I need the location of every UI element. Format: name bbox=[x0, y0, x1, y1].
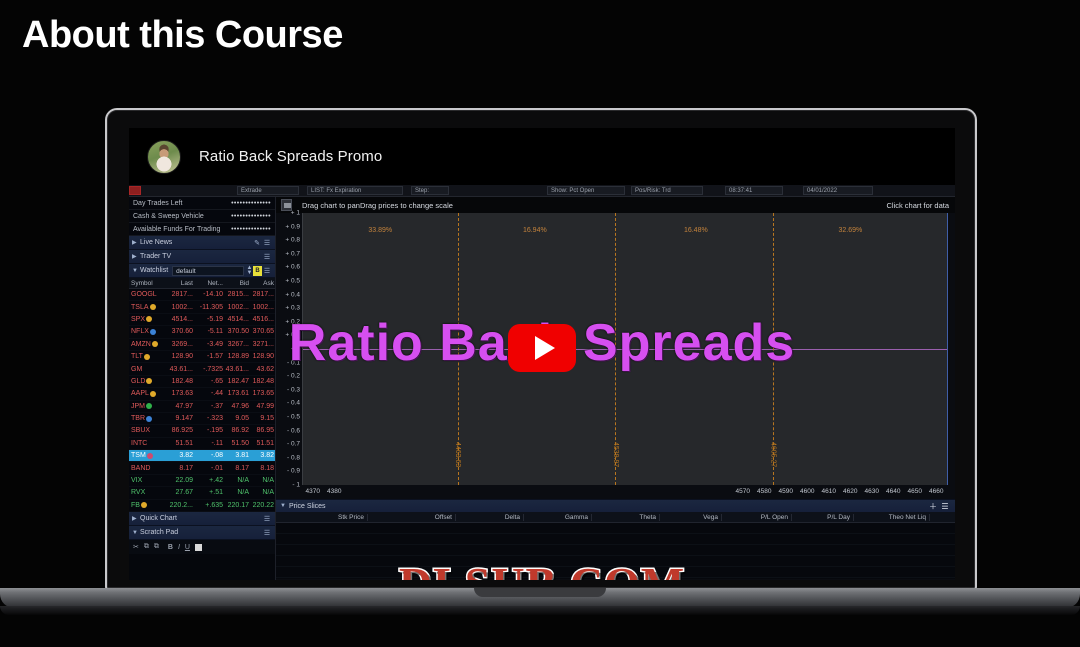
cell-last: 86.925 bbox=[163, 427, 195, 434]
y-tick-label: + 0.9 bbox=[285, 223, 300, 230]
panel-label: Quick Chart bbox=[140, 515, 262, 522]
chevron-down-icon: ▼ bbox=[280, 503, 286, 509]
panel-label: Live News bbox=[140, 239, 252, 246]
x-tick-label: 4590 bbox=[779, 488, 793, 495]
account-value: •••••••••••••• bbox=[231, 213, 271, 220]
cell-symbol: SPX bbox=[129, 316, 163, 323]
price-slices-column-header[interactable]: Theo Net Liq bbox=[854, 514, 930, 521]
watchlist-row[interactable]: TSLA1002...-11.3051002...1002... bbox=[129, 301, 275, 313]
cell-bid: 51.50 bbox=[225, 440, 251, 447]
chart-marker-price-label: 4463.63 bbox=[454, 442, 461, 467]
cell-last: 22.09 bbox=[163, 477, 195, 484]
cell-ask: 1002... bbox=[251, 304, 276, 311]
symbol-badge-icon bbox=[147, 453, 153, 459]
cell-net: -.37 bbox=[195, 403, 225, 410]
col-net[interactable]: Net... bbox=[195, 280, 225, 287]
watchlist-row[interactable]: GLD182.48-.65182.47182.48 bbox=[129, 376, 275, 388]
cell-ask: 4516... bbox=[251, 316, 276, 323]
y-tick-label: - 0.6 bbox=[287, 427, 300, 434]
watchlist-row[interactable]: GOOGL2817...-14.102815...2817... bbox=[129, 289, 275, 301]
y-tick-label: + 0.4 bbox=[285, 291, 300, 298]
chart-marker-price-label: 4539.97 bbox=[612, 442, 619, 467]
cell-net: -.65 bbox=[195, 378, 225, 385]
cell-bid: 220.17 bbox=[225, 502, 251, 509]
chart-hint-left: Drag chart to panDrag prices to change s… bbox=[302, 201, 453, 210]
cell-ask: 173.65 bbox=[251, 390, 276, 397]
toolbar-record-chip[interactable] bbox=[129, 186, 141, 195]
cell-bid: N/A bbox=[225, 489, 251, 496]
symbol-badge-icon bbox=[146, 416, 152, 422]
app-toolbar: Extrade LIST: Fx Expiration Step: Show: … bbox=[129, 185, 955, 197]
cell-last: 47.97 bbox=[163, 403, 195, 410]
panel-live-news[interactable]: ▶ Live News ✎ ☰ bbox=[129, 236, 275, 250]
chart-hint-right: Click chart for data bbox=[886, 201, 949, 210]
watchlist-select[interactable]: default bbox=[172, 266, 244, 276]
symbol-badge-icon bbox=[146, 316, 152, 322]
watchlist-row[interactable]: NFLX370.60-5.11370.50370.65 bbox=[129, 326, 275, 338]
chart-percent-label: 16.94% bbox=[523, 227, 547, 234]
menu-icon[interactable]: ☰ bbox=[939, 502, 951, 511]
cell-net: -5.11 bbox=[195, 328, 225, 335]
y-tick-label: - 0.9 bbox=[287, 468, 300, 475]
watchlist-row[interactable]: AAPL173.63-.44173.61173.65 bbox=[129, 388, 275, 400]
price-slices-columns: Stk PriceOffsetDeltaGammaThetaVegaP/L Op… bbox=[276, 512, 955, 523]
table-row[interactable] bbox=[276, 556, 955, 567]
cell-ask: 8.18 bbox=[251, 465, 276, 472]
x-tick-label: 4610 bbox=[822, 488, 836, 495]
cell-ask: 182.48 bbox=[251, 378, 276, 385]
copy-icon[interactable]: ⧉ bbox=[144, 543, 149, 551]
y-tick-label: + 0.1 bbox=[285, 332, 300, 339]
color-swatch-icon[interactable] bbox=[195, 544, 202, 551]
cell-net: -.08 bbox=[195, 452, 225, 459]
cell-ask: 3271... bbox=[251, 341, 276, 348]
cell-ask: 9.15 bbox=[251, 415, 276, 422]
price-slices-column-header[interactable]: P/L Open bbox=[722, 514, 792, 521]
toolbar-chip-show[interactable]: Show: Pct Open bbox=[547, 186, 625, 195]
price-slices-title: Price Slices bbox=[289, 503, 927, 510]
cell-net: -1.57 bbox=[195, 353, 225, 360]
symbol-badge-icon bbox=[146, 403, 152, 409]
watchlist-row[interactable]: RVX27.67+.51N/AN/A bbox=[129, 487, 275, 499]
cell-symbol: TSLA bbox=[129, 304, 163, 311]
cell-symbol: TBR bbox=[129, 415, 163, 422]
watchlist-row[interactable]: JPM47.97-.3747.9647.99 bbox=[129, 401, 275, 413]
cell-bid: 47.96 bbox=[225, 403, 251, 410]
cell-bid: 1002... bbox=[225, 304, 251, 311]
col-last[interactable]: Last bbox=[163, 280, 195, 287]
watchlist-row[interactable]: GM43.61...-.732543.61...43.62 bbox=[129, 363, 275, 375]
menu-icon[interactable]: ☰ bbox=[262, 515, 272, 523]
laptop-foot bbox=[0, 606, 1080, 615]
x-tick-label: 4580 bbox=[757, 488, 771, 495]
cell-last: 43.61... bbox=[163, 366, 195, 373]
y-tick-label: + 0.7 bbox=[285, 250, 300, 257]
account-label: Cash & Sweep Vehicle bbox=[133, 213, 204, 220]
table-row[interactable] bbox=[276, 523, 955, 534]
y-tick-label: - 0.2 bbox=[287, 373, 300, 380]
paste-icon[interactable]: ⧉ bbox=[154, 543, 159, 551]
cell-bid: 86.92 bbox=[225, 427, 251, 434]
y-tick-label: - 0.8 bbox=[287, 454, 300, 461]
cell-bid: 8.17 bbox=[225, 465, 251, 472]
stepper-icon[interactable]: ▲▼ bbox=[246, 266, 253, 276]
cell-bid: 4514... bbox=[225, 316, 251, 323]
channel-avatar bbox=[147, 140, 181, 174]
table-row[interactable] bbox=[276, 545, 955, 556]
chart-right-rail[interactable] bbox=[947, 213, 955, 485]
cell-symbol: GOOGL bbox=[129, 291, 163, 298]
symbol-badge-icon bbox=[150, 304, 156, 310]
price-slices-column-header[interactable]: P/L Day bbox=[792, 514, 854, 521]
symbol-badge-icon bbox=[146, 378, 152, 384]
underline-icon[interactable]: U bbox=[185, 544, 190, 551]
scratchpad-toolbar: ✂ ⧉ ⧉ B I U bbox=[129, 540, 275, 554]
pencil-icon[interactable]: ✎ bbox=[252, 239, 262, 247]
y-tick-label: - 0.4 bbox=[287, 400, 300, 407]
page-title: About this Course bbox=[22, 14, 343, 57]
panel-quick-chart[interactable]: ▶ Quick Chart ☰ bbox=[129, 512, 275, 526]
screenshot-root: About this Course Ratio Back Spreads Pro… bbox=[0, 0, 1080, 647]
watchlist-row[interactable]: TLT128.90-1.57128.89128.90 bbox=[129, 351, 275, 363]
cell-net: +.51 bbox=[195, 489, 225, 496]
cell-symbol: GM bbox=[129, 366, 163, 373]
cell-last: 3269... bbox=[163, 341, 195, 348]
cell-last: 8.17 bbox=[163, 465, 195, 472]
y-tick-label: + 1 bbox=[291, 210, 300, 217]
scratchpad-text-area[interactable] bbox=[129, 554, 275, 580]
account-value: •••••••••••••• bbox=[231, 226, 271, 233]
laptop-mockup: Ratio Back Spreads Promo Extrade LIST: F… bbox=[105, 108, 977, 590]
chart-percent-label: 33.89% bbox=[368, 227, 392, 234]
col-symbol[interactable]: Symbol bbox=[129, 280, 163, 287]
cell-net: -.7325 bbox=[195, 366, 225, 373]
price-slices-header[interactable]: ▼ Price Slices ＋ ☰ bbox=[276, 499, 955, 512]
plot-canvas[interactable]: 33.89%16.94%4463.6316.48%4539.9732.69%46… bbox=[302, 213, 947, 485]
cell-symbol: AAPL bbox=[129, 390, 163, 397]
x-tick-label: 4600 bbox=[800, 488, 814, 495]
y-tick-label: - 0.7 bbox=[287, 441, 300, 448]
table-row[interactable] bbox=[276, 567, 955, 578]
menu-icon[interactable]: ☰ bbox=[262, 239, 272, 247]
x-tick-label: 4660 bbox=[929, 488, 943, 495]
cell-net: -.11 bbox=[195, 440, 225, 447]
cell-symbol: NFLX bbox=[129, 328, 163, 335]
y-tick-label: - 0.5 bbox=[287, 414, 300, 421]
cell-symbol: GLD bbox=[129, 378, 163, 385]
cell-symbol: VIX bbox=[129, 477, 163, 484]
watchlist-badge[interactable]: B bbox=[253, 266, 262, 276]
watchlist-row[interactable]: AMZN3269...-3.493267...3271... bbox=[129, 339, 275, 351]
plus-icon[interactable]: ＋ bbox=[927, 501, 939, 512]
cell-bid: 3267... bbox=[225, 341, 251, 348]
table-row[interactable] bbox=[276, 534, 955, 545]
cell-last: 3.82 bbox=[163, 452, 195, 459]
menu-icon[interactable]: ☰ bbox=[262, 529, 272, 537]
watchlist-row[interactable]: SPX4514...-5.194514...4516... bbox=[129, 314, 275, 326]
toolbar-chip-posrisk[interactable]: Pos/Risk: Trd bbox=[631, 186, 703, 195]
x-tick-label: 4370 bbox=[306, 488, 320, 495]
price-slices-body[interactable] bbox=[276, 523, 955, 579]
watchlist-row[interactable]: BAND8.17-.018.178.18 bbox=[129, 462, 275, 474]
watchlist-row[interactable]: INTC51.51-.1151.5051.51 bbox=[129, 438, 275, 450]
cell-last: 9.147 bbox=[163, 415, 195, 422]
left-sidebar: Day Trades Left •••••••••••••• Cash & Sw… bbox=[129, 197, 276, 580]
chevron-down-icon: ▼ bbox=[132, 530, 140, 536]
panel-watchlist[interactable]: ▼ Watchlist default ▲▼ B ☰ bbox=[129, 264, 275, 278]
price-slices-column-header[interactable]: Stk Price bbox=[276, 514, 368, 521]
cell-ask: 86.95 bbox=[251, 427, 276, 434]
cell-ask: 51.51 bbox=[251, 440, 276, 447]
y-tick-label: - 0.3 bbox=[287, 386, 300, 393]
y-tick-label: - 0.1 bbox=[287, 359, 300, 366]
cell-last: 182.48 bbox=[163, 378, 195, 385]
col-ask[interactable]: Ask bbox=[251, 280, 276, 287]
y-tick-label: - 1 bbox=[292, 482, 300, 489]
panel-label: Scratch Pad bbox=[140, 529, 262, 536]
video-title: Ratio Back Spreads Promo bbox=[199, 148, 382, 165]
cell-net: -.44 bbox=[195, 390, 225, 397]
watchlist-row[interactable]: FB220.2...+.635220.17220.22 bbox=[129, 500, 275, 512]
watchlist-row[interactable]: TSM3.82-.083.813.82 bbox=[129, 450, 275, 462]
cell-last: 27.67 bbox=[163, 489, 195, 496]
italic-icon[interactable]: I bbox=[178, 544, 180, 551]
x-tick-label: 4380 bbox=[327, 488, 341, 495]
cell-symbol: JPM bbox=[129, 403, 163, 410]
toolbar-clock: 08:37:41 bbox=[725, 186, 783, 195]
chart-hint-bar: Drag chart to panDrag prices to change s… bbox=[276, 197, 955, 213]
chart-percent-label: 32.69% bbox=[839, 227, 863, 234]
x-axis[interactable]: 4370438045704580459046004610462046304640… bbox=[302, 485, 947, 499]
cell-ask: 2817... bbox=[251, 291, 276, 298]
laptop-screen: Ratio Back Spreads Promo Extrade LIST: F… bbox=[129, 128, 955, 580]
cell-bid: 2815... bbox=[225, 291, 251, 298]
price-slices-column-header[interactable]: Gamma bbox=[524, 514, 592, 521]
col-bid[interactable]: Bid bbox=[225, 280, 251, 287]
y-tick-label: + 0.3 bbox=[285, 305, 300, 312]
cell-ask: 370.65 bbox=[251, 328, 276, 335]
y-axis[interactable]: + 1+ 0.9+ 0.8+ 0.7+ 0.6+ 0.5+ 0.4+ 0.3+ … bbox=[276, 213, 302, 485]
cell-symbol: SBUX bbox=[129, 427, 163, 434]
cell-net: -14.10 bbox=[195, 291, 225, 298]
toolbar-date: 04/01/2022 bbox=[803, 186, 873, 195]
cell-ask: 47.99 bbox=[251, 403, 276, 410]
cell-bid: 370.50 bbox=[225, 328, 251, 335]
cell-bid: 43.61... bbox=[225, 366, 251, 373]
cell-net: -11.305 bbox=[195, 304, 225, 311]
cell-symbol: BAND bbox=[129, 465, 163, 472]
chevron-right-icon: ▶ bbox=[132, 253, 140, 260]
symbol-badge-icon bbox=[144, 354, 150, 360]
cell-net: -.01 bbox=[195, 465, 225, 472]
x-tick-label: 4630 bbox=[865, 488, 879, 495]
cell-ask: N/A bbox=[251, 477, 276, 484]
watchlist-label: Watchlist bbox=[140, 267, 168, 274]
cell-last: 2817... bbox=[163, 291, 195, 298]
x-tick-label: 4570 bbox=[736, 488, 750, 495]
chart-marker-price-label: 4605.27 bbox=[770, 442, 777, 467]
cell-symbol: RVX bbox=[129, 489, 163, 496]
account-row-day-trades: Day Trades Left •••••••••••••• bbox=[129, 197, 275, 210]
account-row-cash-sweep: Cash & Sweep Vehicle •••••••••••••• bbox=[129, 210, 275, 223]
cell-symbol: TSM bbox=[129, 452, 163, 459]
price-slices-column-header[interactable]: Offset bbox=[368, 514, 456, 521]
cell-last: 370.60 bbox=[163, 328, 195, 335]
cell-last: 128.90 bbox=[163, 353, 195, 360]
cell-symbol: TLT bbox=[129, 353, 163, 360]
chevron-right-icon: ▶ bbox=[132, 515, 140, 522]
account-value: •••••••••••••• bbox=[231, 200, 271, 207]
cell-bid: 3.81 bbox=[225, 452, 251, 459]
account-row-available-funds: Available Funds For Trading ••••••••••••… bbox=[129, 223, 275, 236]
video-header: Ratio Back Spreads Promo bbox=[129, 128, 955, 185]
zero-line bbox=[303, 349, 947, 350]
chevron-right-icon: ▶ bbox=[132, 239, 140, 246]
watchlist-rows: GOOGL2817...-14.102815...2817...TSLA1002… bbox=[129, 289, 275, 512]
symbol-badge-icon bbox=[150, 329, 156, 335]
price-slices-column-header[interactable]: Margin Req bbox=[930, 514, 955, 521]
menu-icon[interactable]: ☰ bbox=[262, 267, 272, 275]
chart-percent-label: 16.48% bbox=[684, 227, 708, 234]
x-tick-label: 4640 bbox=[886, 488, 900, 495]
cell-last: 51.51 bbox=[163, 440, 195, 447]
y-tick-label: + 0.2 bbox=[285, 318, 300, 325]
cell-ask: 3.82 bbox=[251, 452, 276, 459]
cell-last: 1002... bbox=[163, 304, 195, 311]
cell-ask: 128.90 bbox=[251, 353, 276, 360]
laptop-base bbox=[0, 588, 1080, 608]
price-slices-column-header[interactable]: Vega bbox=[660, 514, 722, 521]
y-tick-label: + 0 bbox=[291, 346, 300, 353]
x-tick-label: 4620 bbox=[843, 488, 857, 495]
toolbar-chip-extrade[interactable]: Extrade bbox=[237, 186, 299, 195]
youtube-play-icon[interactable] bbox=[508, 324, 576, 372]
cut-icon[interactable]: ✂ bbox=[133, 543, 139, 551]
cell-net: -3.49 bbox=[195, 341, 225, 348]
symbol-badge-icon bbox=[152, 341, 158, 347]
cell-last: 173.63 bbox=[163, 390, 195, 397]
cell-bid: 128.89 bbox=[225, 353, 251, 360]
cell-net: +.42 bbox=[195, 477, 225, 484]
cell-bid: N/A bbox=[225, 477, 251, 484]
cell-ask: 220.22 bbox=[251, 502, 276, 509]
chevron-down-icon: ▼ bbox=[132, 268, 140, 274]
toolbar-chip-expiration[interactable]: LIST: Fx Expiration bbox=[307, 186, 403, 195]
cell-ask: N/A bbox=[251, 489, 276, 496]
cell-net: -5.19 bbox=[195, 316, 225, 323]
panel-label: Trader TV bbox=[140, 253, 262, 260]
toolbar-chip-step[interactable]: Step: bbox=[411, 186, 449, 195]
cell-symbol: INTC bbox=[129, 440, 163, 447]
bold-icon[interactable]: B bbox=[168, 544, 173, 551]
cell-net: -.195 bbox=[195, 427, 225, 434]
symbol-badge-icon bbox=[150, 391, 156, 397]
cell-bid: 173.61 bbox=[225, 390, 251, 397]
account-label: Available Funds For Trading bbox=[133, 226, 220, 233]
cell-net: -.323 bbox=[195, 415, 225, 422]
cell-bid: 9.05 bbox=[225, 415, 251, 422]
cell-bid: 182.47 bbox=[225, 378, 251, 385]
cell-last: 4514... bbox=[163, 316, 195, 323]
y-tick-label: + 0.6 bbox=[285, 264, 300, 271]
cell-ask: 43.62 bbox=[251, 366, 276, 373]
watchlist-header: Symbol Last Net... Bid Ask bbox=[129, 278, 275, 289]
watchlist-row[interactable]: VIX22.09+.42N/AN/A bbox=[129, 475, 275, 487]
watchlist-row[interactable]: SBUX86.925-.19586.9286.95 bbox=[129, 425, 275, 437]
cell-net: +.635 bbox=[195, 502, 225, 509]
plot-area[interactable]: + 1+ 0.9+ 0.8+ 0.7+ 0.6+ 0.5+ 0.4+ 0.3+ … bbox=[276, 213, 955, 485]
cell-last: 220.2... bbox=[163, 502, 195, 509]
account-label: Day Trades Left bbox=[133, 200, 182, 207]
y-tick-label: + 0.8 bbox=[285, 237, 300, 244]
watchlist-row[interactable]: TBR9.147-.3239.059.15 bbox=[129, 413, 275, 425]
panel-trader-tv[interactable]: ▶ Trader TV ☰ bbox=[129, 250, 275, 264]
x-tick-label: 4650 bbox=[908, 488, 922, 495]
y-tick-label: + 0.5 bbox=[285, 278, 300, 285]
chart-panel: Drag chart to panDrag prices to change s… bbox=[276, 197, 955, 580]
panel-scratch-pad[interactable]: ▼ Scratch Pad ☰ bbox=[129, 526, 275, 540]
cell-symbol: FB bbox=[129, 502, 163, 509]
price-slices-column-header[interactable]: Theta bbox=[592, 514, 660, 521]
price-slices-column-header[interactable]: Delta bbox=[456, 514, 524, 521]
menu-icon[interactable]: ☰ bbox=[262, 253, 272, 261]
trading-platform: Extrade LIST: Fx Expiration Step: Show: … bbox=[129, 185, 955, 580]
symbol-badge-icon bbox=[141, 502, 147, 508]
cell-symbol: AMZN bbox=[129, 341, 163, 348]
